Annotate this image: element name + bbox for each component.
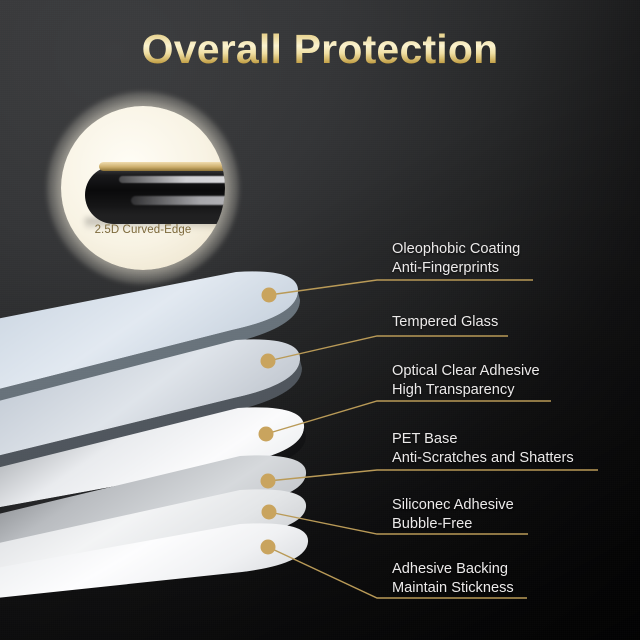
callout-line2-optical-clear-adhesive: High Transparency [392,381,540,400]
callout-line1-optical-clear-adhesive: Optical Clear Adhesive [392,363,540,379]
callout-labels: Oleophobic CoatingAnti-FingerprintsTempe… [0,0,640,640]
callout-line2-adhesive-backing: Maintain Stickness [392,579,514,598]
callout-label-adhesive-backing: Adhesive BackingMaintain Stickness [392,560,514,597]
callout-line2-siliconec-adhesive: Bubble-Free [392,515,514,534]
callout-label-pet-base: PET BaseAnti-Scratches and Shatters [392,430,574,467]
callout-label-tempered-glass: Tempered Glass [392,313,498,332]
callout-label-optical-clear-adhesive: Optical Clear AdhesiveHigh Transparency [392,362,540,399]
callout-label-oleophobic-coating: Oleophobic CoatingAnti-Fingerprints [392,240,520,277]
callout-label-siliconec-adhesive: Siliconec AdhesiveBubble-Free [392,496,514,533]
callout-line2-oleophobic-coating: Anti-Fingerprints [392,259,520,278]
callout-line1-pet-base: PET Base [392,431,457,447]
callout-line1-oleophobic-coating: Oleophobic Coating [392,241,520,257]
callout-line1-adhesive-backing: Adhesive Backing [392,561,508,577]
callout-line2-pet-base: Anti-Scratches and Shatters [392,449,574,468]
callout-line1-siliconec-adhesive: Siliconec Adhesive [392,497,514,513]
callout-line1-tempered-glass: Tempered Glass [392,314,498,330]
product-infographic: Overall Protection 2.5D Curved-Edge [0,0,640,640]
